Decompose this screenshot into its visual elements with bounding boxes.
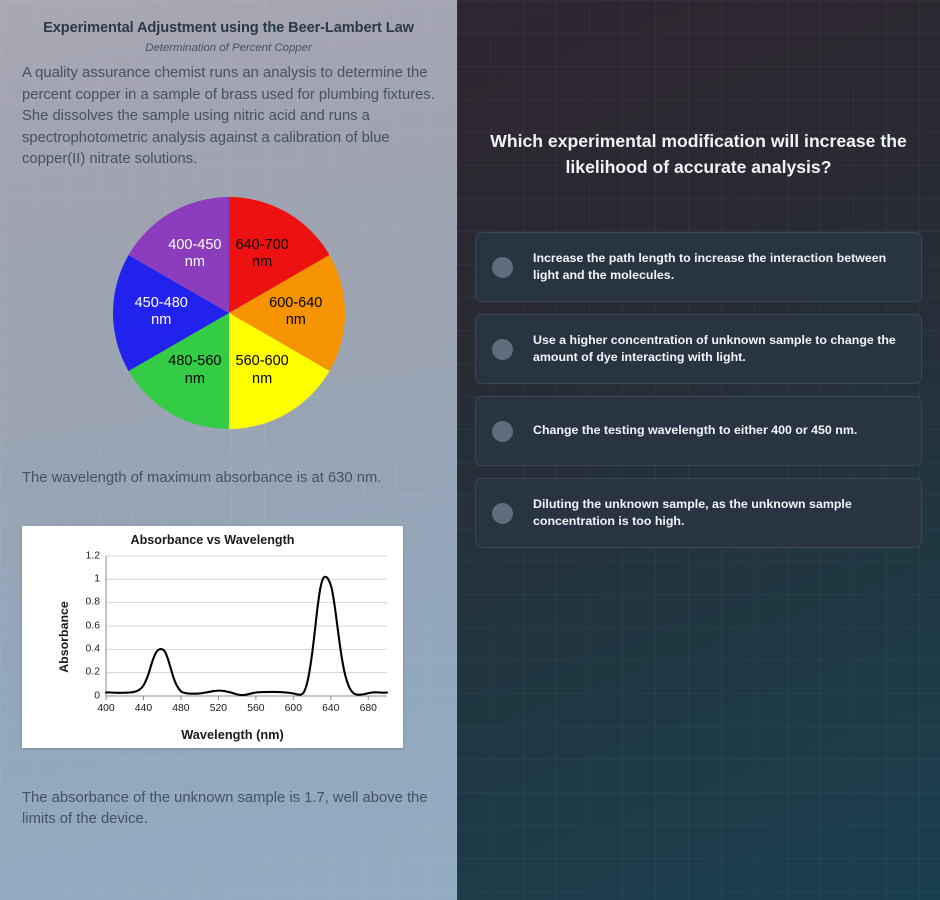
absorbance-chart: Absorbance vs Wavelength Absorbance Wave… — [22, 526, 403, 748]
answer-options-list: Increase the path length to increase the… — [475, 232, 922, 548]
color-wheel-svg — [113, 197, 345, 429]
scenario-paragraph: A quality assurance chemist runs an anal… — [22, 63, 435, 171]
slide-root: Experimental Adjustment using the Beer-L… — [0, 0, 940, 900]
color-wheel-figure: 640-700 nm600-640 nm560-600 nm480-560 nm… — [22, 189, 435, 464]
answer-option-a[interactable]: Increase the path length to increase the… — [475, 232, 922, 302]
answer-option-label: Use a higher concentration of unknown sa… — [533, 332, 905, 367]
chart-y-tick-label: 1 — [72, 573, 100, 584]
answer-option-label: Increase the path length to increase the… — [533, 250, 905, 285]
answer-option-c[interactable]: Change the testing wavelength to either … — [475, 396, 922, 466]
answer-option-b[interactable]: Use a higher concentration of unknown sa… — [475, 314, 922, 384]
radio-button-icon-a[interactable] — [492, 257, 513, 278]
radio-button-icon-d[interactable] — [492, 503, 513, 524]
chart-x-tick-label: 400 — [86, 703, 126, 714]
chart-y-tick-label: 0 — [72, 690, 100, 701]
chart-y-tick-label: 0.6 — [72, 620, 100, 631]
chart-y-tick-label: 0.2 — [72, 667, 100, 678]
visible-spectrum-color-wheel: 640-700 nm600-640 nm560-600 nm480-560 nm… — [113, 197, 345, 429]
chart-y-tick-label: 0.4 — [72, 643, 100, 654]
chart-x-tick-label: 440 — [123, 703, 163, 714]
chart-y-tick-label: 0.8 — [72, 597, 100, 608]
answer-option-d[interactable]: Diluting the unknown sample, as the unkn… — [475, 478, 922, 548]
question-prompt: Which experimental modification will inc… — [475, 128, 922, 180]
note-unknown-absorbance: The absorbance of the unknown sample is … — [22, 788, 435, 831]
question-panel: Which experimental modification will inc… — [457, 0, 940, 900]
chart-x-tick-label: 600 — [273, 703, 313, 714]
radio-button-icon-c[interactable] — [492, 421, 513, 442]
page-title: Experimental Adjustment using the Beer-L… — [22, 20, 435, 36]
note-max-absorbance: The wavelength of maximum absorbance is … — [22, 468, 435, 490]
answer-option-label: Diluting the unknown sample, as the unkn… — [533, 496, 905, 531]
chart-x-tick-label: 640 — [311, 703, 351, 714]
chart-x-tick-label: 520 — [198, 703, 238, 714]
chart-series-line — [106, 576, 387, 694]
chart-x-tick-label: 560 — [236, 703, 276, 714]
radio-button-icon-b[interactable] — [492, 339, 513, 360]
page-subtitle: Determination of Percent Copper — [22, 42, 435, 54]
answer-option-label: Change the testing wavelength to either … — [533, 422, 857, 440]
chart-x-tick-label: 680 — [348, 703, 388, 714]
stimulus-panel: Experimental Adjustment using the Beer-L… — [0, 0, 457, 900]
chart-x-tick-label: 480 — [161, 703, 201, 714]
chart-y-tick-label: 1.2 — [72, 550, 100, 561]
